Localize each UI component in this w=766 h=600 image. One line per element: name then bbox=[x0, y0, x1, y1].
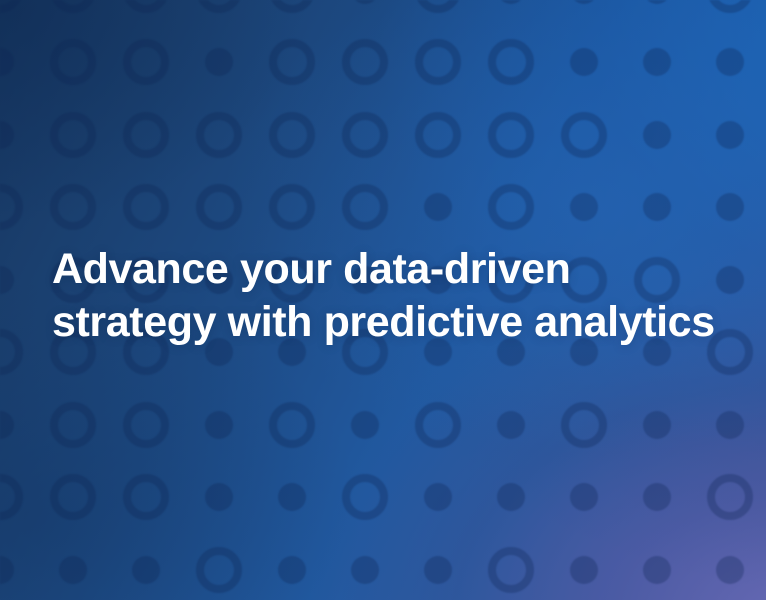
pattern-dot bbox=[497, 483, 525, 511]
pattern-dot bbox=[351, 556, 379, 584]
pattern-dot bbox=[0, 121, 14, 149]
pattern-ring bbox=[419, 43, 457, 81]
pattern-ring bbox=[0, 478, 19, 516]
pattern-ring bbox=[565, 406, 603, 444]
pattern-ring bbox=[346, 478, 384, 516]
pattern-ring bbox=[127, 43, 165, 81]
pattern-dot bbox=[643, 483, 671, 511]
pattern-ring bbox=[711, 0, 749, 9]
pattern-dot bbox=[716, 193, 744, 221]
pattern-dot bbox=[0, 411, 14, 439]
pattern-dot bbox=[497, 411, 525, 439]
pattern-ring bbox=[200, 551, 238, 589]
pattern-dot bbox=[59, 556, 87, 584]
pattern-dot bbox=[570, 193, 598, 221]
pattern-dot bbox=[570, 0, 598, 4]
pattern-ring bbox=[200, 0, 238, 9]
pattern-dot bbox=[424, 556, 452, 584]
pattern-ring bbox=[54, 116, 92, 154]
pattern-ring bbox=[273, 406, 311, 444]
pattern-ring bbox=[492, 43, 530, 81]
pattern-dot bbox=[351, 411, 379, 439]
pattern-dot bbox=[424, 483, 452, 511]
pattern-dot bbox=[716, 48, 744, 76]
pattern-ring bbox=[346, 116, 384, 154]
pattern-ring bbox=[200, 188, 238, 226]
pattern-dot bbox=[132, 556, 160, 584]
pattern-dot bbox=[0, 556, 14, 584]
pattern-ring bbox=[0, 333, 19, 371]
pattern-dot bbox=[570, 556, 598, 584]
pattern-ring bbox=[492, 116, 530, 154]
pattern-ring bbox=[54, 188, 92, 226]
pattern-dot bbox=[643, 193, 671, 221]
pattern-dot bbox=[716, 411, 744, 439]
pattern-ring bbox=[346, 43, 384, 81]
pattern-ring bbox=[711, 478, 749, 516]
pattern-dot bbox=[278, 556, 306, 584]
pattern-dot bbox=[643, 0, 671, 4]
pattern-dot bbox=[570, 48, 598, 76]
hero-banner: Advance your data-driven strategy with p… bbox=[0, 0, 766, 600]
pattern-ring bbox=[273, 116, 311, 154]
headline-text: Advance your data-driven strategy with p… bbox=[52, 243, 724, 349]
pattern-ring bbox=[273, 43, 311, 81]
pattern-ring bbox=[54, 43, 92, 81]
pattern-ring bbox=[127, 0, 165, 9]
pattern-dot bbox=[0, 266, 14, 294]
pattern-ring bbox=[127, 406, 165, 444]
pattern-dot bbox=[0, 48, 14, 76]
pattern-dot bbox=[351, 0, 379, 4]
pattern-dot bbox=[424, 193, 452, 221]
pattern-ring bbox=[54, 478, 92, 516]
pattern-ring bbox=[419, 406, 457, 444]
pattern-dot bbox=[570, 483, 598, 511]
pattern-ring bbox=[54, 406, 92, 444]
pattern-dot bbox=[716, 121, 744, 149]
pattern-dot bbox=[643, 121, 671, 149]
pattern-ring bbox=[200, 116, 238, 154]
pattern-ring bbox=[54, 0, 92, 9]
pattern-ring bbox=[127, 116, 165, 154]
pattern-ring bbox=[0, 0, 19, 9]
pattern-ring bbox=[127, 478, 165, 516]
pattern-ring bbox=[346, 188, 384, 226]
pattern-dot bbox=[643, 411, 671, 439]
pattern-dot bbox=[716, 556, 744, 584]
pattern-ring bbox=[419, 116, 457, 154]
pattern-ring bbox=[0, 188, 19, 226]
pattern-dot bbox=[205, 483, 233, 511]
pattern-dot bbox=[643, 48, 671, 76]
pattern-ring bbox=[273, 0, 311, 9]
pattern-ring bbox=[273, 188, 311, 226]
pattern-dot bbox=[643, 556, 671, 584]
pattern-dot bbox=[205, 411, 233, 439]
pattern-ring bbox=[127, 188, 165, 226]
pattern-dot bbox=[278, 483, 306, 511]
pattern-dot bbox=[497, 0, 525, 4]
pattern-ring bbox=[492, 188, 530, 226]
headline-block: Advance your data-driven strategy with p… bbox=[52, 243, 724, 349]
pattern-ring bbox=[565, 116, 603, 154]
pattern-ring bbox=[492, 551, 530, 589]
pattern-ring bbox=[419, 0, 457, 9]
pattern-dot bbox=[205, 48, 233, 76]
